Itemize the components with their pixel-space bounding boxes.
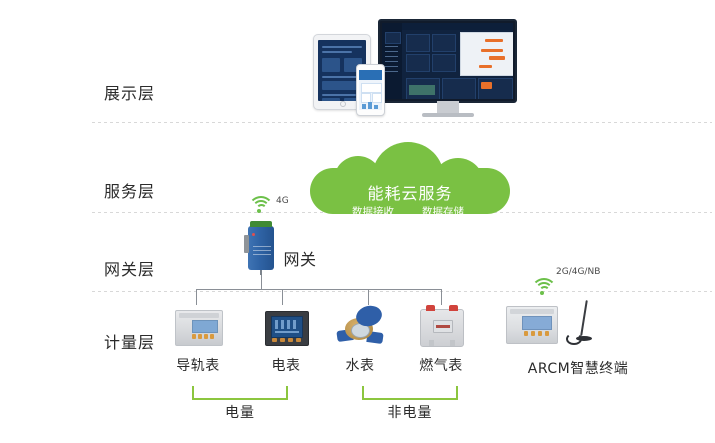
smartphone-screen [359,70,382,110]
meter-label-gas: 燃气表 [411,355,471,375]
electric-meter-display [271,316,303,338]
gateway-port [244,235,249,253]
smartphone-device [356,64,385,116]
architecture-diagram: 展示层 服务层 网关层 计量层 [0,0,715,443]
electric-meter-device [265,311,309,346]
arcm-terminal-device [506,306,558,344]
bracket-non-electric-group [362,386,458,400]
monitor-stand [437,101,459,113]
group-label-electric: 电量 [192,402,288,422]
cloud-feature-data-storage: 数据存储 [422,204,464,219]
monitor-screen [382,23,513,99]
wifi-icon [529,278,555,296]
gateway-led [252,233,255,236]
divider-display-service [92,122,712,123]
group-label-non-electric: 非电量 [362,402,458,422]
meter-label-water: 水表 [330,355,390,375]
branch-line-gas [441,289,442,305]
gateway-uplink-tag: 4G [276,196,289,206]
branch-line-electric [282,289,283,305]
cloud-feature-web-service: Web服务 [352,218,396,233]
gateway-bus-line [196,289,441,290]
meter-label-electric: 电表 [256,355,316,375]
dashboard-map-panel [460,32,513,76]
layer-label-display: 展示层 [104,80,194,104]
gateway-trunk-line [261,275,262,289]
smartphone-header [359,70,382,80]
wifi-icon [246,196,272,214]
gateway-label: 网关 [278,246,322,270]
terminal-label-arcm: ARCM智慧终端 [508,358,648,378]
divider-gateway-metering [92,291,712,292]
cloud-service: 能耗云服务 数据接收 数据存储 Web服务 App服务 [310,142,510,214]
cloud-title: 能耗云服务 [310,180,510,204]
gas-meter-display [433,320,453,333]
din-rail-meter-display [192,320,218,333]
monitor-base [422,113,474,117]
cloud-feature-app-service: App服务 [422,218,464,233]
din-rail-meter-device [175,310,223,346]
dashboard-sidebar [382,23,402,99]
layer-label-gateway: 网关层 [104,256,194,280]
gas-meter-device [420,309,464,347]
gateway-device [248,226,274,270]
tablet-home-button [340,101,346,107]
dashboard-topbar [402,23,513,30]
layer-label-service: 服务层 [104,178,194,202]
bracket-electric-group [192,386,288,400]
terminal-uplink-tag: 2G/4G/NB [556,267,600,277]
antenna-icon [566,300,592,346]
monitor-device [378,19,517,103]
water-meter-device [337,306,383,346]
cloud-feature-data-receive: 数据接收 [352,204,394,219]
meter-label-din-rail: 导轨表 [163,355,233,375]
arcm-terminal-display [522,316,552,330]
branch-line-water [368,289,369,305]
branch-line-din [196,289,197,305]
